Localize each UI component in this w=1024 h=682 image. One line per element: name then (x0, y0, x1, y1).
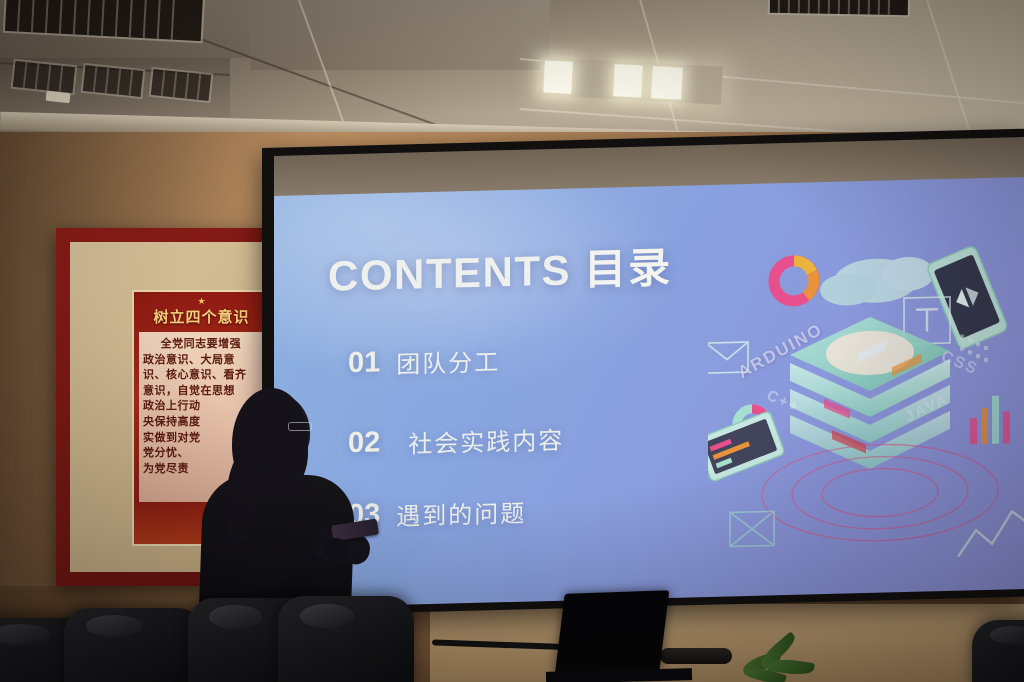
toc-number: 01 (348, 346, 380, 380)
potted-plant (738, 640, 826, 682)
toc-label: 社会实践内容 (408, 421, 564, 460)
slide-artwork-tech-illustration: ARDUINO C++ CSS JAVA (708, 237, 1024, 585)
slide-title-cn: 目录 (584, 244, 672, 293)
ceiling (0, 0, 1024, 150)
poster-line: 识、核心意识、看齐 (143, 368, 260, 384)
air-vent-icon (770, 0, 909, 15)
open-laptop[interactable] (560, 592, 678, 682)
toc-label: 团队分工 (396, 342, 500, 380)
light-panel (651, 66, 683, 100)
light-panel (543, 60, 573, 93)
toc-item-02: 02 社会实践内容 (348, 421, 564, 461)
ceiling-tile (250, 0, 550, 70)
toc-label: 遇到的问题 (396, 494, 526, 532)
conference-room-scene: ★ 树立四个意识 全党同志要增强 政治意识、大局意 识、核心意识、看齐 意识，自… (0, 0, 1024, 682)
glasses-icon (288, 422, 312, 431)
ceiling-grid-line (926, 0, 974, 143)
toc-item-01: 01 团队分工 (348, 342, 500, 381)
office-chair[interactable] (972, 620, 1024, 682)
ceiling-light-fixture (539, 57, 723, 104)
poster-title: 树立四个意识 (134, 306, 269, 327)
laptop-screen[interactable] (555, 590, 670, 676)
slide-title-en: CONTENTS (328, 246, 571, 299)
office-chair[interactable] (64, 608, 204, 682)
poster-line: 政治意识、大局意 (143, 353, 260, 369)
slide-title: CONTENTS 目录 (328, 234, 672, 304)
presenter-hand (324, 538, 348, 560)
light-panel (613, 64, 643, 97)
poster-line: 全党同志要增强 (143, 337, 260, 353)
presentation-slide: ARDUINO C++ CSS JAVA CONTENTS 目录 01 团队分工… (274, 177, 1024, 608)
office-chair[interactable] (278, 596, 414, 682)
